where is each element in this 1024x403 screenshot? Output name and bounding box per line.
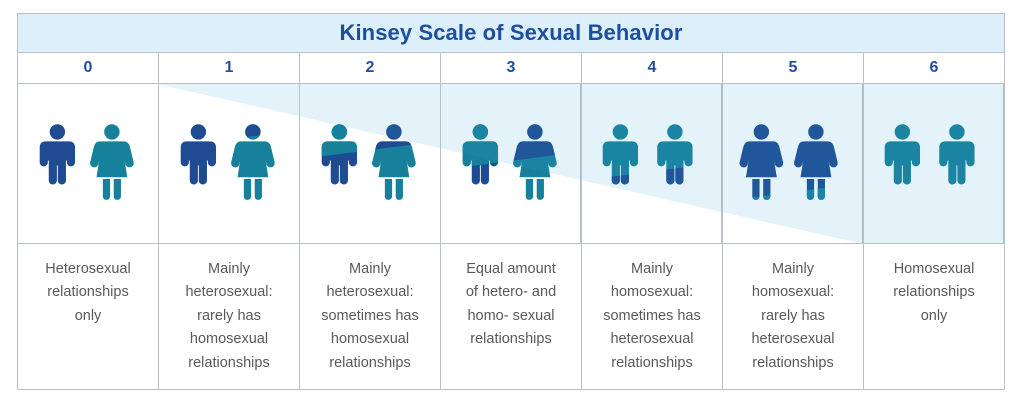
kinsey-scale-table: Kinsey Scale of Sexual Behavior 0 1 2 3 … — [17, 13, 1005, 390]
caption-cell-5: Mainly homosexual: rarely has heterosexu… — [723, 244, 864, 389]
pictogram-row — [18, 84, 1004, 244]
pictogram-cell-1 — [159, 84, 300, 243]
man-figure-icon — [885, 124, 920, 184]
pictogram-cell-3 — [441, 84, 582, 243]
scale-number-2: 2 — [300, 53, 441, 83]
man-figure-icon — [603, 124, 638, 184]
woman-figure-icon-2 — [794, 124, 838, 200]
caption-cell-3: Equal amount of hetero- and homo- sexual… — [441, 244, 582, 389]
table-title-row: Kinsey Scale of Sexual Behavior — [18, 14, 1004, 53]
pictogram-cell-6 — [863, 84, 1004, 243]
pictogram-cell-5 — [722, 84, 863, 243]
scale-number-5: 5 — [723, 53, 864, 83]
caption-row: Heterosexual relationships only Mainly h… — [18, 244, 1004, 389]
scale-number-4: 4 — [582, 53, 723, 83]
man-figure-icon — [180, 124, 215, 184]
pictogram-cell-2 — [300, 84, 441, 243]
pictogram-cell-0 — [18, 84, 159, 243]
scale-number-6: 6 — [864, 53, 1004, 83]
woman-figure-icon — [90, 124, 134, 200]
scale-number-row: 0 1 2 3 4 5 6 — [18, 53, 1004, 84]
man-figure-icon-2 — [939, 124, 974, 184]
caption-cell-0: Heterosexual relationships only — [18, 244, 159, 389]
scale-number-3: 3 — [441, 53, 582, 83]
caption-cell-1: Mainly heterosexual: rarely has homosexu… — [159, 244, 300, 389]
caption-cell-6: Homosexual relationships only — [864, 244, 1004, 389]
man-figure-icon-2 — [658, 124, 693, 184]
caption-cell-2: Mainly heterosexual: sometimes has homos… — [300, 244, 441, 389]
scale-number-1: 1 — [159, 53, 300, 83]
caption-cell-4: Mainly homosexual: sometimes has heteros… — [582, 244, 723, 389]
woman-figure-icon — [740, 124, 784, 200]
page-title: Kinsey Scale of Sexual Behavior — [339, 20, 682, 46]
pictogram-cell-4 — [581, 84, 722, 243]
man-figure-icon — [40, 124, 75, 184]
scale-number-0: 0 — [18, 53, 159, 83]
